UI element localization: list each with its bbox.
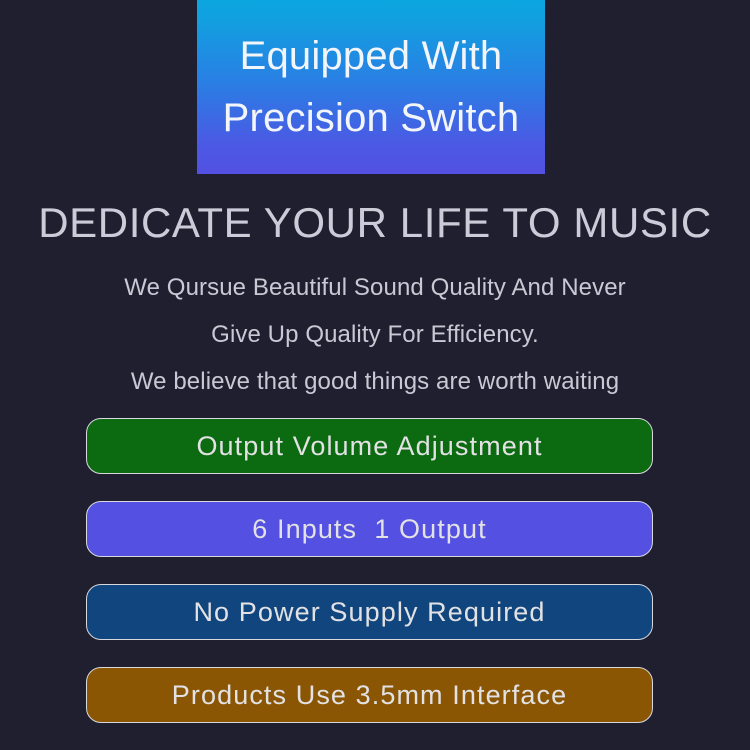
promo-page: Equipped With Precision Switch DEDICATE … bbox=[0, 0, 750, 750]
hero-banner-line-2: Precision Switch bbox=[223, 87, 520, 149]
feature-list: Output Volume Adjustment 6 Inputs 1 Outp… bbox=[86, 418, 653, 723]
tagline-line-1: We Qursue Beautiful Sound Quality And Ne… bbox=[0, 264, 750, 311]
feature-pill-label: Output Volume Adjustment bbox=[196, 431, 542, 461]
hero-banner: Equipped With Precision Switch bbox=[197, 0, 545, 174]
feature-pill-no-power-supply-required[interactable]: No Power Supply Required bbox=[86, 584, 653, 640]
feature-pill-label: Products Use 3.5mm Interface bbox=[172, 680, 567, 710]
tagline-line-2: Give Up Quality For Efficiency. bbox=[0, 311, 750, 358]
feature-pill-inputs-outputs[interactable]: 6 Inputs 1 Output bbox=[86, 501, 653, 557]
feature-pill-label: 6 Inputs 1 Output bbox=[252, 514, 486, 544]
hero-banner-line-1: Equipped With bbox=[240, 25, 503, 87]
page-title: DEDICATE YOUR LIFE TO MUSIC bbox=[0, 197, 750, 249]
feature-pill-label: No Power Supply Required bbox=[193, 597, 545, 627]
feature-pill-output-volume-adjustment[interactable]: Output Volume Adjustment bbox=[86, 418, 653, 474]
tagline-line-3: We believe that good things are worth wa… bbox=[0, 358, 750, 405]
tagline-block: We Qursue Beautiful Sound Quality And Ne… bbox=[0, 264, 750, 405]
feature-pill-3-5mm-interface[interactable]: Products Use 3.5mm Interface bbox=[86, 667, 653, 723]
